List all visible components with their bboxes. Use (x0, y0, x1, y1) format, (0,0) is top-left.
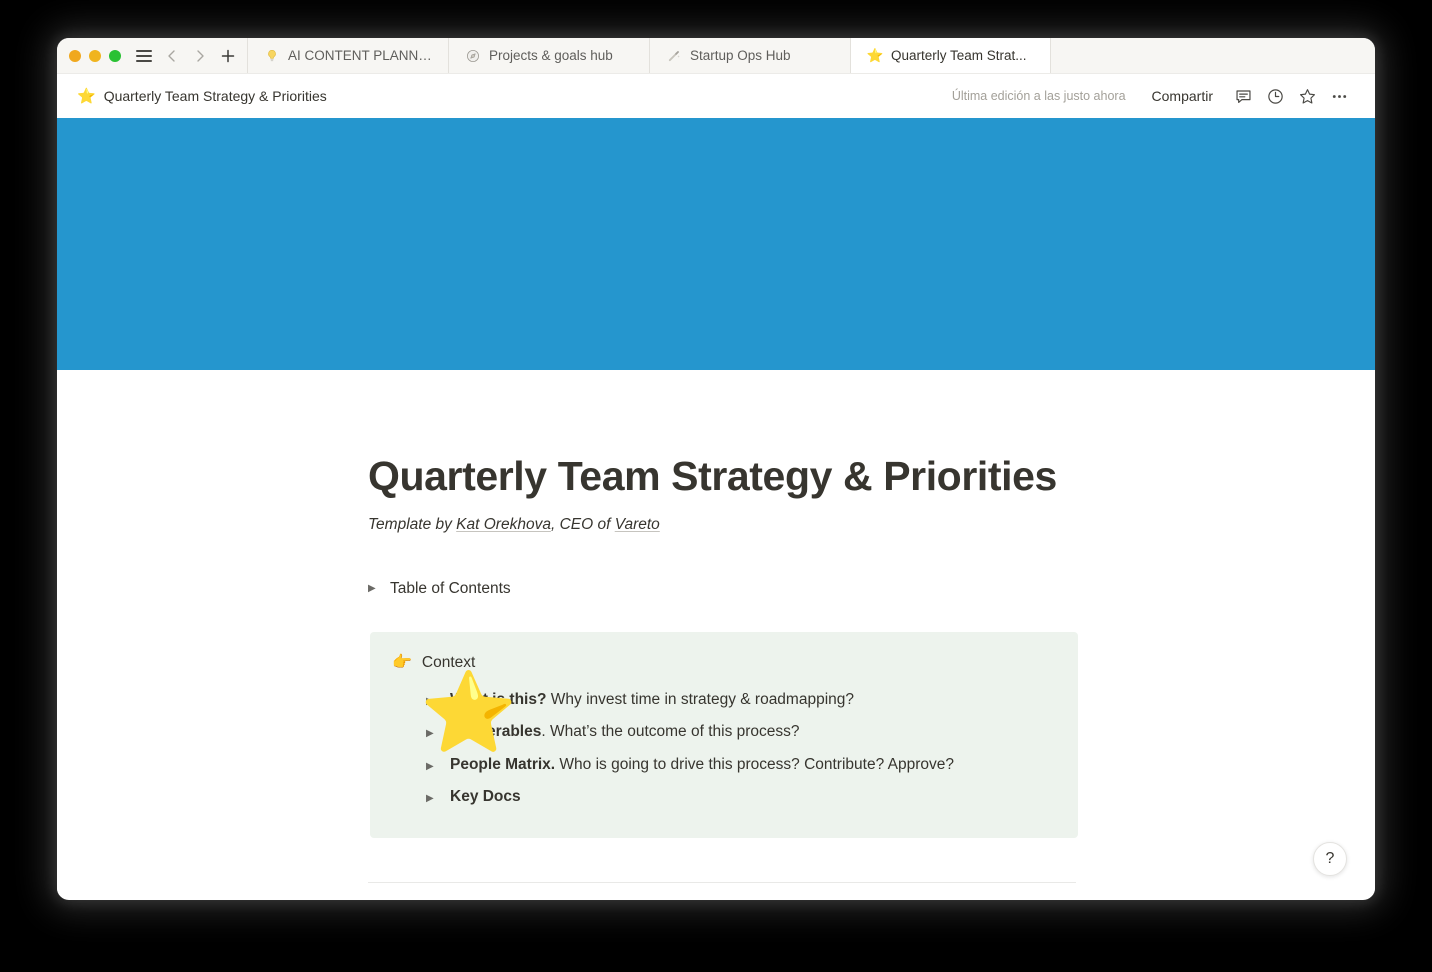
more-options-icon[interactable] (1325, 82, 1353, 110)
byline-prefix: Template by (368, 516, 456, 533)
section-divider (368, 882, 1076, 883)
byline-author-link[interactable]: Kat Orekhova (456, 516, 551, 533)
list-item-rest: . What’s the outcome of this process? (541, 723, 799, 740)
header-actions: Última edición a las justo ahora Compart… (952, 82, 1353, 110)
byline-middle: , CEO of (551, 516, 615, 533)
sidebar-toggle-button[interactable] (131, 43, 157, 69)
chevron-left-icon (164, 48, 180, 64)
share-button[interactable]: Compartir (1144, 84, 1221, 108)
list-item[interactable]: ▶ Deliverables. What’s the outcome of th… (426, 716, 1058, 748)
favorite-star-icon[interactable] (1293, 82, 1321, 110)
browser-tab-bar: AI CONTENT PLANNI... Projects & goals hu… (57, 38, 1375, 74)
tab-label: Projects & goals hub (489, 48, 613, 63)
table-of-contents-toggle[interactable]: ▶ Table of Contents (368, 580, 1070, 598)
chevron-right-icon[interactable]: ▶ (426, 762, 436, 772)
list-item-bold: People Matrix. (450, 756, 555, 773)
list-item[interactable]: ▶ Key Docs (426, 781, 1058, 813)
tab-label: AI CONTENT PLANNI... (288, 48, 432, 63)
list-item[interactable]: ▶ What is this? Why invest time in strat… (426, 684, 1058, 716)
tab-quarterly-team-strategy[interactable]: ⭐ Quarterly Team Strat... (850, 38, 1051, 73)
breadcrumb-title: Quarterly Team Strategy & Priorities (104, 88, 327, 104)
tab-startup-ops-hub[interactable]: Startup Ops Hub (649, 38, 850, 73)
breadcrumb[interactable]: ⭐ Quarterly Team Strategy & Priorities (77, 88, 327, 104)
tab-projects-goals-hub[interactable]: Projects & goals hub (448, 38, 649, 73)
plus-icon (220, 48, 236, 64)
list-item-bold: Key Docs (450, 788, 521, 805)
page-cover-banner[interactable] (57, 118, 1375, 370)
byline-company-link[interactable]: Vareto (615, 516, 660, 533)
window-traffic-lights (57, 38, 131, 73)
page-icon-star-emoji[interactable]: ⭐ (420, 673, 517, 751)
tab-label: Quarterly Team Strat... (891, 48, 1027, 63)
forward-button[interactable] (187, 43, 213, 69)
desktop-background: AI CONTENT PLANNI... Projects & goals hu… (0, 0, 1432, 972)
page-header-bar: ⭐ Quarterly Team Strategy & Priorities Ú… (57, 74, 1375, 118)
table-of-contents-label: Table of Contents (390, 580, 511, 598)
history-icon[interactable] (1261, 82, 1289, 110)
maximize-window-button[interactable] (109, 50, 121, 62)
new-tab-button[interactable] (215, 43, 241, 69)
comment-icon[interactable] (1229, 82, 1257, 110)
page-byline: Template by Kat Orekhova, CEO of Vareto (368, 516, 1070, 534)
list-item-rest: Why invest time in strategy & roadmappin… (546, 691, 854, 708)
page-content: Quarterly Team Strategy & Priorities Tem… (362, 370, 1070, 896)
close-window-button[interactable] (69, 50, 81, 62)
tab-list: AI CONTENT PLANNI... Projects & goals hu… (247, 38, 1375, 73)
app-window: AI CONTENT PLANNI... Projects & goals hu… (57, 38, 1375, 900)
chevron-right-icon[interactable]: ▶ (426, 794, 436, 804)
pointing-hand-icon: 👉 (392, 655, 412, 671)
page-star-emoji-icon: ⭐ (77, 89, 96, 104)
list-item-text: Key Docs (450, 786, 521, 808)
tab-ai-content-planning[interactable]: AI CONTENT PLANNI... (247, 38, 448, 73)
help-button[interactable]: ? (1313, 842, 1347, 876)
navigation-controls (131, 38, 247, 73)
star-icon: ⭐ (867, 48, 883, 64)
minimize-window-button[interactable] (89, 50, 101, 62)
list-item[interactable]: ▶ People Matrix. Who is going to drive t… (426, 749, 1058, 781)
page-content-scroll-area[interactable]: ⭐ Quarterly Team Strategy & Priorities T… (57, 370, 1375, 896)
last-edited-label: Última edición a las justo ahora (952, 89, 1126, 103)
chevron-right-icon (192, 48, 208, 64)
list-item-text: People Matrix. Who is going to drive thi… (450, 754, 954, 776)
page-title[interactable]: Quarterly Team Strategy & Priorities (368, 370, 1070, 500)
tabbar-empty-space (1051, 38, 1375, 73)
tab-label: Startup Ops Hub (690, 48, 791, 63)
chevron-right-icon[interactable]: ▶ (368, 584, 378, 594)
lightbulb-icon (264, 48, 280, 64)
list-item-rest: Who is going to drive this process? Cont… (555, 756, 954, 773)
hamburger-icon (136, 50, 152, 62)
back-button[interactable] (159, 43, 185, 69)
magic-wand-icon (666, 48, 682, 64)
compass-icon (465, 48, 481, 64)
